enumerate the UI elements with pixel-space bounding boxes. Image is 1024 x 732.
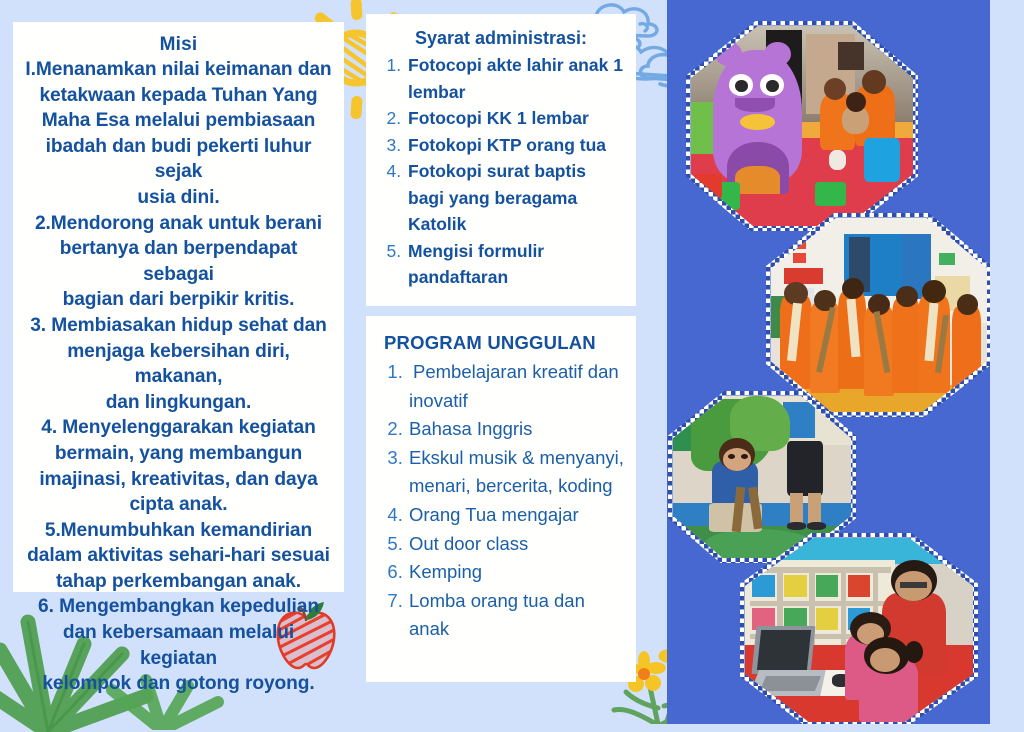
- misi-line: imajinasi, kreativitas, dan daya: [23, 467, 334, 493]
- misi-line: 3. Membiasakan hidup sehat dan: [23, 313, 334, 339]
- misi-line: 6. Mengembangkan kepedulian: [23, 594, 334, 620]
- program-title: PROGRAM UNGGULAN: [384, 332, 624, 354]
- list-item: Fotocopi KK 1 lembar: [406, 105, 624, 132]
- list-item: Kemping: [408, 558, 624, 587]
- misi-line: ibadah dan budi pekerti luhur sejak: [23, 134, 334, 185]
- misi-line: bagian dari berpikir kritis.: [23, 287, 334, 313]
- list-item: Fotokopi KTP orang tua: [406, 132, 624, 159]
- program-unggulan-card: PROGRAM UNGGULAN Pembelajaran kreatif da…: [366, 316, 636, 682]
- photo-image: [691, 26, 913, 226]
- syarat-administrasi-card: Syarat administrasi: Fotocopi akte lahir…: [366, 14, 636, 306]
- misi-line: 5.Menumbuhkan kemandirian: [23, 518, 334, 544]
- misi-line: I.Menanamkan nilai keimanan dan: [23, 57, 334, 83]
- list-item: Bahasa Inggris: [408, 415, 624, 444]
- misi-line: dan lingkungan.: [23, 390, 334, 416]
- misi-line: bertanya dan berpendapat sebagai: [23, 236, 334, 287]
- misi-line: 2.Mendorong anak untuk berani: [23, 211, 334, 237]
- photo-image: [745, 538, 973, 722]
- photo-teacher-laptop: [745, 538, 973, 722]
- misi-title: Misi: [23, 34, 334, 56]
- misi-line: cipta anak.: [23, 492, 334, 518]
- misi-line: menjaga kebersihan diri, makanan,: [23, 339, 334, 390]
- misi-line: ketakwaan kepada Tuhan Yang: [23, 83, 334, 109]
- list-item: Orang Tua mengajar: [408, 501, 624, 530]
- misi-line: Maha Esa melalui pembiasaan: [23, 108, 334, 134]
- misi-line: dan kebersamaan melalui kegiatan: [23, 620, 334, 671]
- photo-playground: [691, 26, 913, 226]
- misi-card: Misi I.Menanamkan nilai keimanan dan ket…: [13, 22, 344, 592]
- list-item: Fotokopi surat baptis bagi yang beragama…: [406, 158, 624, 238]
- poster-canvas: Misi I.Menanamkan nilai keimanan dan ket…: [0, 0, 1024, 724]
- photo-classroom-line: [771, 218, 987, 412]
- list-item: Pembelajaran kreatif dan inovatif: [408, 358, 624, 415]
- misi-line: usia dini.: [23, 185, 334, 211]
- list-item: Fotocopi akte lahir anak 1 lembar: [406, 52, 624, 105]
- misi-line: kelompok dan gotong royong.: [23, 671, 334, 697]
- syarat-title: Syarat administrasi:: [378, 28, 624, 49]
- syarat-list: Fotocopi akte lahir anak 1 lembar Fotoco…: [378, 52, 624, 291]
- list-item: Lomba orang tua dan anak: [408, 587, 624, 644]
- misi-line: tahap perkembangan anak.: [23, 569, 334, 595]
- list-item: Ekskul musik & menyanyi, menari, berceri…: [408, 444, 624, 501]
- misi-line: dalam aktivitas sehari-hari sesuai: [23, 543, 334, 569]
- photo-panel: [667, 0, 990, 724]
- misi-line: bermain, yang membangun: [23, 441, 334, 467]
- photo-image: [771, 218, 987, 412]
- program-list: Pembelajaran kreatif dan inovatif Bahasa…: [378, 358, 624, 644]
- misi-line: 4. Menyelenggarakan kegiatan: [23, 415, 334, 441]
- list-item: Out door class: [408, 530, 624, 559]
- list-item: Mengisi formulir pandaftaran: [406, 238, 624, 291]
